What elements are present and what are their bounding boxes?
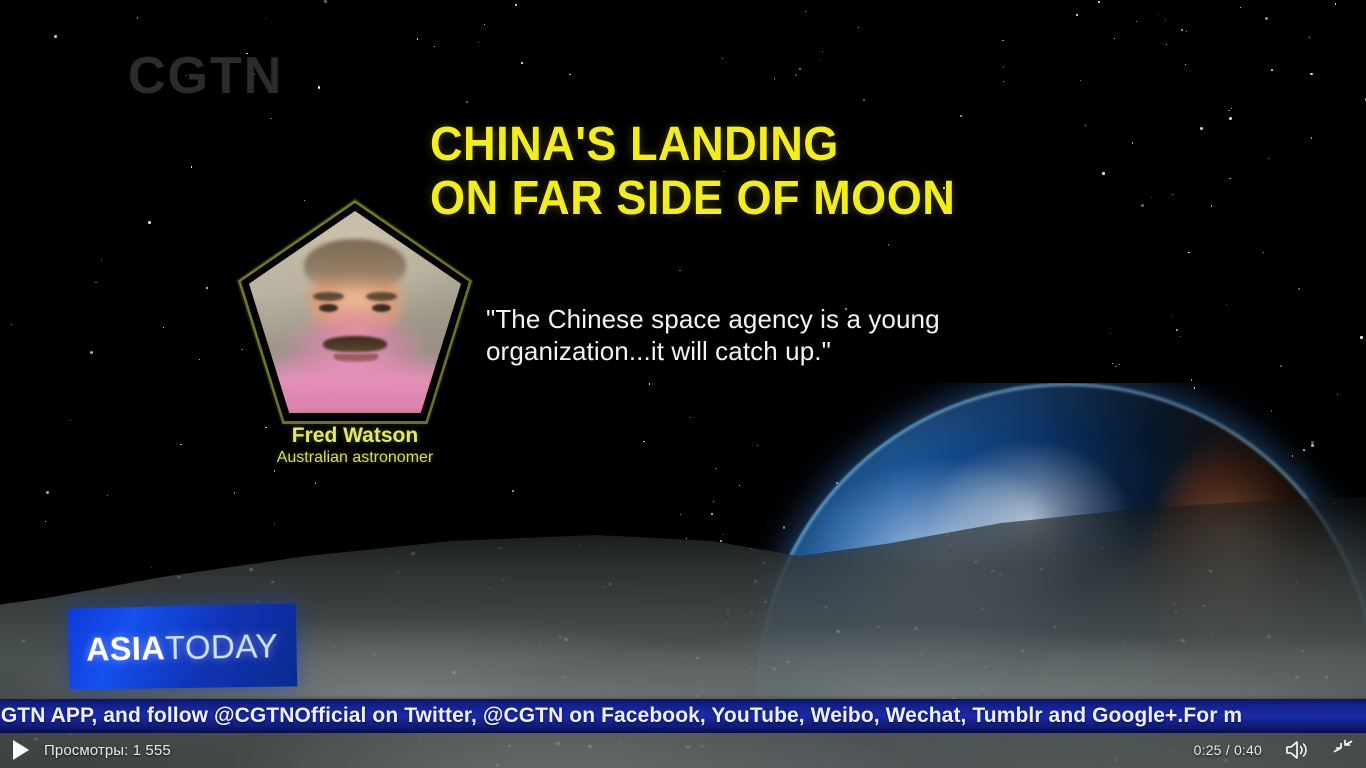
speaker-role: Australian astronomer: [236, 448, 474, 467]
headline-line-2: ON FAR SIDE OF MOON: [430, 172, 1032, 226]
speaker-name: Fred Watson: [236, 424, 474, 448]
volume-speaker-icon[interactable]: [1284, 739, 1310, 761]
player-controls[interactable]: Просмотры: 1 555 0:25 / 0:40: [0, 732, 1366, 768]
cgtn-watermark: CGTN: [128, 46, 283, 106]
headline: CHINA'S LANDING ON FAR SIDE OF MOON: [430, 118, 1032, 226]
program-logo-bold: ASIA: [86, 629, 166, 667]
exit-fullscreen-icon[interactable]: [1332, 739, 1354, 761]
quote-line-1: "The Chinese space agency is a young: [486, 303, 1046, 335]
program-logo-text: ASIATODAY: [86, 628, 279, 665]
time-display: 0:25 / 0:40: [1194, 742, 1262, 758]
speaker-caption: Fred Watson Australian astronomer: [236, 424, 474, 467]
video-player-stage[interactable]: CGTN CHINA'S LANDING ON FAR SIDE OF MOON…: [0, 0, 1366, 768]
views-counter: Просмотры: 1 555: [44, 742, 171, 759]
quote-text: "The Chinese space agency is a young org…: [486, 303, 1046, 367]
program-logo: ASIATODAY: [68, 603, 297, 689]
speaker-photo: [249, 211, 461, 413]
headline-line-1: CHINA'S LANDING: [430, 118, 1032, 172]
news-ticker-text: oad CGTN APP, and follow @CGTNOfficial o…: [0, 704, 1242, 728]
news-ticker: oad CGTN APP, and follow @CGTNOfficial o…: [0, 699, 1366, 733]
play-button[interactable]: [8, 737, 34, 763]
program-logo-light: TODAY: [165, 626, 279, 665]
quote-line-2: organization...it will catch up.": [486, 335, 1046, 367]
speaker-portrait: [236, 198, 474, 426]
